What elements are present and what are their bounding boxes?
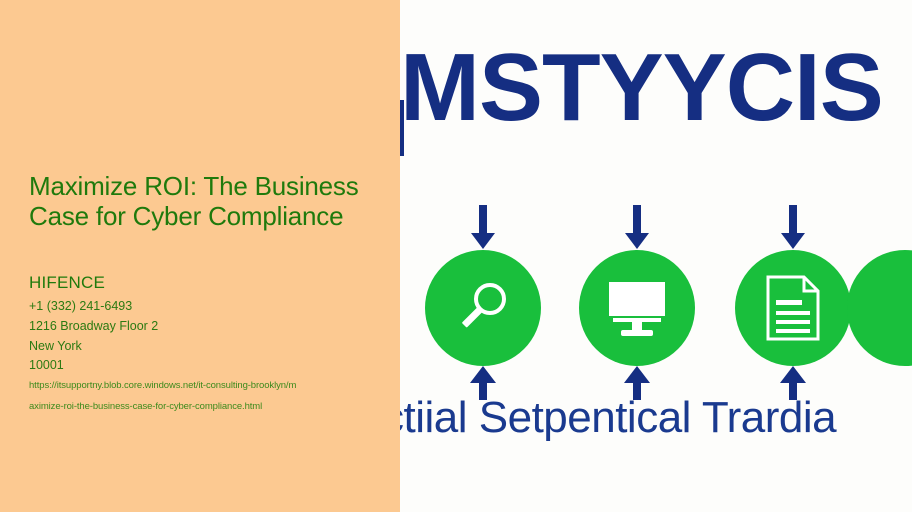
- contact-city: New York: [29, 339, 82, 354]
- contact-zip: 10001: [29, 358, 64, 373]
- document-icon: [764, 274, 822, 342]
- icon-node-monitor[interactable]: [579, 250, 695, 366]
- monitor-icon: [605, 278, 669, 338]
- article-url-line-1[interactable]: https://itsupportny.blob.core.windows.ne…: [29, 380, 296, 392]
- arrow-down-icon: [466, 205, 500, 249]
- contact-phone: +1 (332) 241-6493: [29, 299, 132, 314]
- headline-letter-fragment: [400, 100, 404, 156]
- arrow-down-icon: [620, 205, 654, 249]
- magnifier-icon: [451, 276, 515, 340]
- icon-node-partial[interactable]: [847, 250, 912, 366]
- article-panel: Maximize ROI: The Business Case for Cybe…: [0, 0, 400, 512]
- page-title: Maximize ROI: The Business Case for Cybe…: [29, 171, 400, 231]
- infographic-headline: MSTYYCIS: [400, 38, 912, 138]
- brand-name: HIFENCE: [29, 273, 105, 293]
- contact-street: 1216 Broadway Floor 2: [29, 319, 158, 334]
- icon-node-magnifier[interactable]: [425, 250, 541, 366]
- infographic-panel: MSTYYCIS: [400, 0, 912, 512]
- infographic-caption: ctiial Setpentical Trardia: [400, 392, 912, 444]
- arrow-down-icon: [776, 205, 810, 249]
- article-url-line-2[interactable]: aximize-roi-the-business-case-for-cyber-…: [29, 401, 262, 413]
- icon-node-document[interactable]: [735, 250, 851, 366]
- screenshot-root: MSTYYCIS: [0, 0, 912, 512]
